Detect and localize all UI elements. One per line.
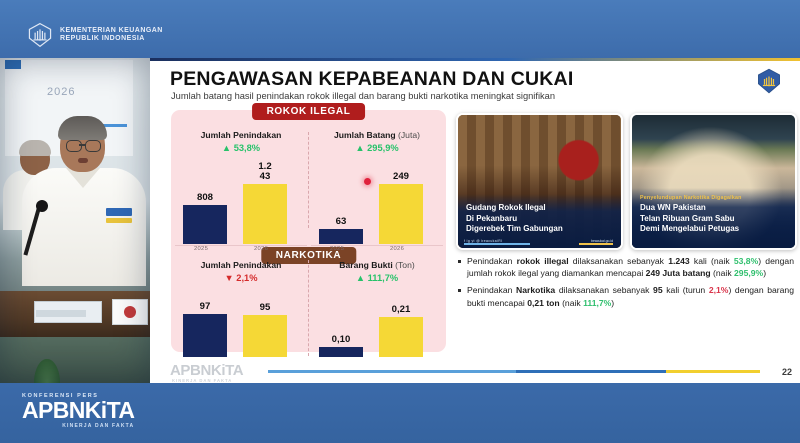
slide-footer: APBNKiTA KINERJA DAN FAKTA 22: [150, 357, 800, 383]
bar-value-label: 0,21: [379, 305, 423, 315]
axis-tick-label: 2025: [330, 246, 344, 252]
press-logo-sub: KINERJA DAN FAKTA: [22, 423, 134, 429]
bar-value-label: 249: [379, 172, 423, 182]
video-vignette: [0, 58, 150, 383]
chart-delta-value: 111,7%: [368, 273, 399, 283]
chart-delta-badge: ▼ 2,1%: [175, 273, 307, 283]
bullet-emphasis: 295,9%: [734, 268, 763, 278]
bullet-emphasis: rokok illegal: [517, 256, 569, 266]
slide-accent-rule: [150, 58, 800, 61]
chart-divider-bottom: [308, 260, 309, 356]
page-number: 22: [782, 367, 792, 377]
statistics-card: ROKOK ILEGAL NARKOTIKA Jumlah Penindakan…: [171, 110, 446, 352]
screenshot-stage: KEMENTERIAN KEUANGAN REPUBLIK INDONESIA …: [0, 0, 800, 443]
footer-rule-blue: [516, 370, 666, 373]
bar-value-label: 97: [183, 302, 227, 312]
photo-a-line-3: Digerebek Tim Gabungan: [466, 224, 613, 234]
bullet-item: Penindakan Narkotika dilaksanakan sebany…: [458, 284, 794, 308]
bar-chart: 8081.243: [175, 158, 307, 244]
bullet-emphasis: 111,7%: [583, 298, 611, 308]
bar-value-label: 0,10: [319, 335, 363, 345]
chart-title-text: Jumlah Penindakan: [201, 260, 282, 270]
ministry-line-1: KEMENTERIAN KEUANGAN: [60, 27, 163, 35]
chart-delta-badge: ▲ 53,8%: [175, 143, 307, 153]
bullet-emphasis: 53,8%: [734, 256, 758, 266]
bullet-emphasis: 0,21 ton: [527, 298, 559, 308]
summary-bullet-list: Penindakan rokok illegal dilaksanakan se…: [458, 255, 794, 314]
bar-value-label: 808: [183, 193, 227, 203]
bullet-text: Penindakan Narkotika dilaksanakan sebany…: [467, 284, 794, 308]
bullet-text: Penindakan rokok illegal dilaksanakan se…: [467, 255, 794, 279]
bar-value-line: 63: [319, 217, 363, 227]
press-conference-logo: KONFERENSI PERS APBNKiTA KINERJA DAN FAK…: [22, 393, 134, 429]
photo-a-footer: f ig yt @ beacukaiRI beacukai.go.id: [458, 239, 621, 248]
chart-title: Jumlah Penindakan: [175, 260, 307, 270]
bar-value-line: 0,10: [319, 335, 363, 345]
triangle-up-icon: ▲: [355, 143, 364, 153]
garuda-seal-icon: [27, 22, 53, 48]
bullet-emphasis: 2,1%: [709, 285, 729, 295]
chart-title: Barang Bukti (Ton): [311, 260, 443, 270]
presentation-slide: PENGAWASAN KEPABEANAN DAN CUKAI Jumlah b…: [150, 58, 800, 383]
ministry-logo-lockup: KEMENTERIAN KEUANGAN REPUBLIK INDONESIA: [27, 22, 163, 48]
chart-title-text: Jumlah Batang: [334, 130, 396, 140]
axis-tick-label: 2026: [390, 246, 404, 252]
chart-title: Jumlah Penindakan: [175, 130, 307, 140]
bar-value-line: 97: [183, 302, 227, 312]
photo-b-line-3: Demi Mengelabui Petugas: [640, 224, 787, 234]
photo-a-line-1: Gudang Rokok Ilegal: [466, 203, 613, 213]
bar-value-label: 63: [319, 217, 363, 227]
bullet-emphasis: 1.243: [668, 256, 690, 266]
bullet-marker-icon: [458, 260, 461, 263]
photo-a-line-2: Di Pekanbaru: [466, 214, 613, 224]
bullet-emphasis: 249 Juta batang: [646, 268, 711, 278]
chart-unit: (Ton): [395, 260, 415, 270]
kemenkeu-emblem-icon: [756, 68, 782, 94]
photo-b-kicker: Penyelundupan Narkotika Digagalkan: [640, 195, 787, 201]
chart-panel-rokok-batang: Jumlah Batang (Juta)▲ 295,9%632492025202…: [311, 130, 443, 257]
photo-a-rule-blue: [464, 243, 530, 245]
bar-chart: 63249: [311, 158, 443, 244]
chart-divider-top: [308, 132, 309, 228]
badge-rokok-ilegal: ROKOK ILEGAL: [252, 103, 366, 120]
footer-rule-light-blue: [268, 370, 516, 373]
chart-title-text: Barang Bukti: [339, 260, 392, 270]
bullet-item: Penindakan rokok illegal dilaksanakan se…: [458, 255, 794, 279]
chart-x-axis: 20252026: [311, 245, 443, 257]
triangle-up-icon: ▲: [222, 143, 231, 153]
ministry-line-2: REPUBLIK INDONESIA: [60, 35, 163, 43]
photo-a-rule-yellow: [579, 243, 613, 245]
bullet-marker-icon: [458, 289, 461, 292]
bar-value-line: 249: [379, 172, 423, 182]
slide-footer-logo: APBNKiTA: [170, 362, 243, 379]
chart-title-text: Jumlah Penindakan: [201, 130, 282, 140]
press-logo-text: APBNKiTA: [22, 400, 134, 422]
chart-unit: (Juta): [398, 130, 420, 140]
photo-b-line-2: Telan Ribuan Gram Sabu: [640, 214, 787, 224]
photo-gudang-rokok: Gudang Rokok Ilegal Di Pekanbaru Digereb…: [456, 113, 623, 250]
triangle-up-icon: ▲: [356, 273, 365, 283]
chart-title: Jumlah Batang (Juta): [311, 130, 443, 140]
bar-rect: [183, 205, 227, 244]
page-title: PENGAWASAN KEPABEANAN DAN CUKAI: [170, 68, 573, 91]
bar-value-line: 808: [183, 193, 227, 203]
bar-rect: [379, 184, 423, 244]
bar-rect: [319, 229, 363, 244]
photo-a-social: f ig yt @ beacukaiRI: [464, 239, 502, 243]
photo-b-line-1: Dua WN Pakistan: [640, 203, 787, 213]
photo-b-caption: Penyelundupan Narkotika Digagalkan Dua W…: [632, 188, 795, 248]
bullet-emphasis: 95: [653, 285, 663, 295]
bar-value-label: 95: [243, 303, 287, 313]
chart-panel-rokok-penindakan: Jumlah Penindakan▲ 53,8%8081.24320252026: [175, 130, 307, 257]
bar-value-line: 0,21: [379, 305, 423, 315]
bar-value-line: 95: [243, 303, 287, 313]
triangle-down-icon: ▼: [225, 273, 234, 283]
bar-value-line: 43: [243, 172, 287, 182]
chart-highlight-dot-icon: [364, 178, 371, 185]
chart-delta-badge: ▲ 295,9%: [311, 143, 443, 153]
chart-delta-value: 53,8%: [234, 143, 260, 153]
axis-tick-label: 2025: [194, 246, 208, 252]
chart-delta-value: 295,9%: [367, 143, 399, 153]
footer-rule-yellow: [666, 370, 760, 373]
bar-value-label: 1.243: [243, 162, 287, 182]
axis-tick-label: 2026: [254, 246, 268, 252]
photo-narkotika: Penyelundupan Narkotika Digagalkan Dua W…: [630, 113, 797, 250]
chart-delta-badge: ▲ 111,7%: [311, 273, 443, 283]
photo-a-url: beacukai.go.id: [591, 239, 613, 243]
bar-rect: [243, 184, 287, 244]
chart-x-axis: 20252026: [175, 245, 307, 257]
speaker-video-feed: 2026: [0, 58, 150, 383]
chart-delta-value: 2,1%: [236, 273, 257, 283]
slide-footer-logo-sub: KINERJA DAN FAKTA: [172, 378, 232, 383]
bullet-emphasis: Narkotika: [516, 285, 555, 295]
page-subtitle: Jumlah batang hasil penindakan rokok ill…: [171, 91, 555, 101]
